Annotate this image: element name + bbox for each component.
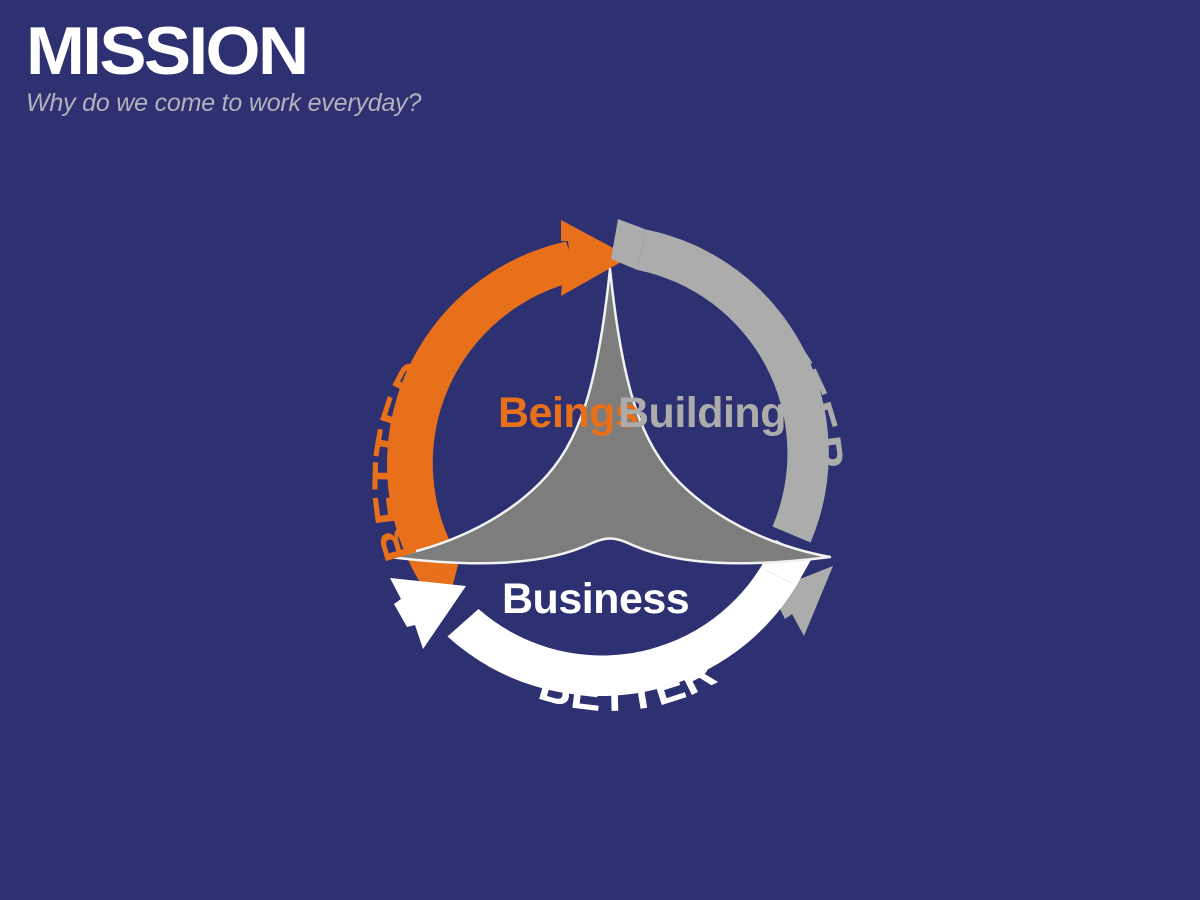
page-subtitle: Why do we come to work everyday? (26, 88, 421, 118)
cycle-svg: BETTER BETTER BETTER Beings Buildings Bu… (330, 195, 890, 755)
node-label-buildings: Buildings (618, 389, 809, 437)
node-label-business: Business (502, 575, 689, 623)
slide-header: MISSION Why do we come to work everyday? (26, 18, 421, 118)
page-title: MISSION (26, 18, 437, 84)
arc-label-buildings: BETTER (717, 279, 855, 474)
slide-canvas: MISSION Why do we come to work everyday? (0, 0, 1200, 900)
mission-cycle-diagram: BETTER BETTER BETTER Beings Buildings Bu… (330, 195, 890, 755)
